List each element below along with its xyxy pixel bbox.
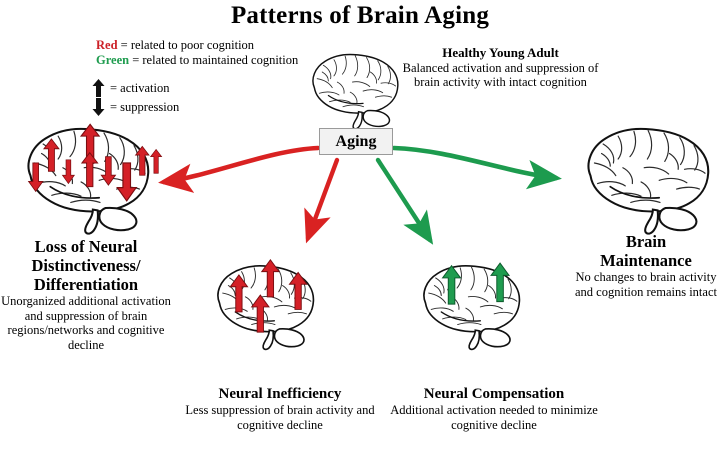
caption-title-line-2: Distinctiveness/ xyxy=(0,256,172,275)
caption-neural-compensation: Neural Compensation Additional activatio… xyxy=(383,385,605,432)
caption-neural-inefficiency: Neural Inefficiency Less suppression of … xyxy=(176,385,384,432)
brain-brain-maintenance xyxy=(589,129,709,234)
caption-title-line-1: Loss of Neural xyxy=(0,237,172,256)
legend-row-suppression: = suppression xyxy=(92,97,292,116)
brain-loss-of-neural-distinctiveness xyxy=(29,124,162,233)
brain-neural-inefficiency xyxy=(218,260,314,350)
aging-node[interactable]: Aging xyxy=(319,128,393,155)
down-arrow-icon xyxy=(92,98,105,116)
caption-body: Additional activation needed to minimize… xyxy=(383,403,605,432)
caption-title: Neural Inefficiency xyxy=(176,385,384,403)
caption-healthy-young-adult: Healthy Young Adult Balanced activation … xyxy=(398,46,603,90)
legend-red-text: = related to poor cognition xyxy=(118,38,255,52)
legend-green-keyword: Green xyxy=(96,53,129,67)
legend-row-red: Red = related to poor cognition xyxy=(96,38,336,53)
caption-body: No changes to brain activity and cogniti… xyxy=(572,270,720,299)
legend-green-text: = related to maintained cognition xyxy=(129,53,298,67)
caption-brain-maintenance: Brain Maintenance No changes to brain ac… xyxy=(572,232,720,299)
brain-arrow-up xyxy=(151,149,162,173)
legend-row-activation: = activation xyxy=(92,78,292,97)
legend-red-keyword: Red xyxy=(96,38,118,52)
legend: Red = related to poor cognition Green = … xyxy=(96,38,336,68)
caption-title: Neural Compensation xyxy=(383,385,605,403)
up-arrow-icon xyxy=(92,79,105,97)
caption-title: Healthy Young Adult xyxy=(398,46,603,61)
caption-title-line-2: Maintenance xyxy=(572,251,720,270)
caption-body: Balanced activation and suppression of b… xyxy=(398,61,603,90)
diagram-canvas: .b-outline{fill:#ffffff;stroke:#111111;s… xyxy=(0,0,720,457)
caption-body: Less suppression of brain activity and c… xyxy=(176,403,384,432)
legend-arrow-key: = activation = suppression xyxy=(92,78,292,116)
aging-label: Aging xyxy=(336,133,377,151)
legend-row-green: Green = related to maintained cognition xyxy=(96,53,336,68)
legend-activation-text: = activation xyxy=(110,79,169,98)
legend-suppression-text: = suppression xyxy=(110,98,179,117)
brain-neural-compensation xyxy=(424,263,520,349)
caption-title-line-3: Differentiation xyxy=(0,275,172,294)
caption-title-line-1: Brain xyxy=(572,232,720,251)
page-title: Patterns of Brain Aging xyxy=(0,2,720,30)
caption-loss-of-neural-distinctiveness: Loss of Neural Distinctiveness/ Differen… xyxy=(0,237,172,352)
caption-body: Unorganized additional activation and su… xyxy=(0,294,172,352)
